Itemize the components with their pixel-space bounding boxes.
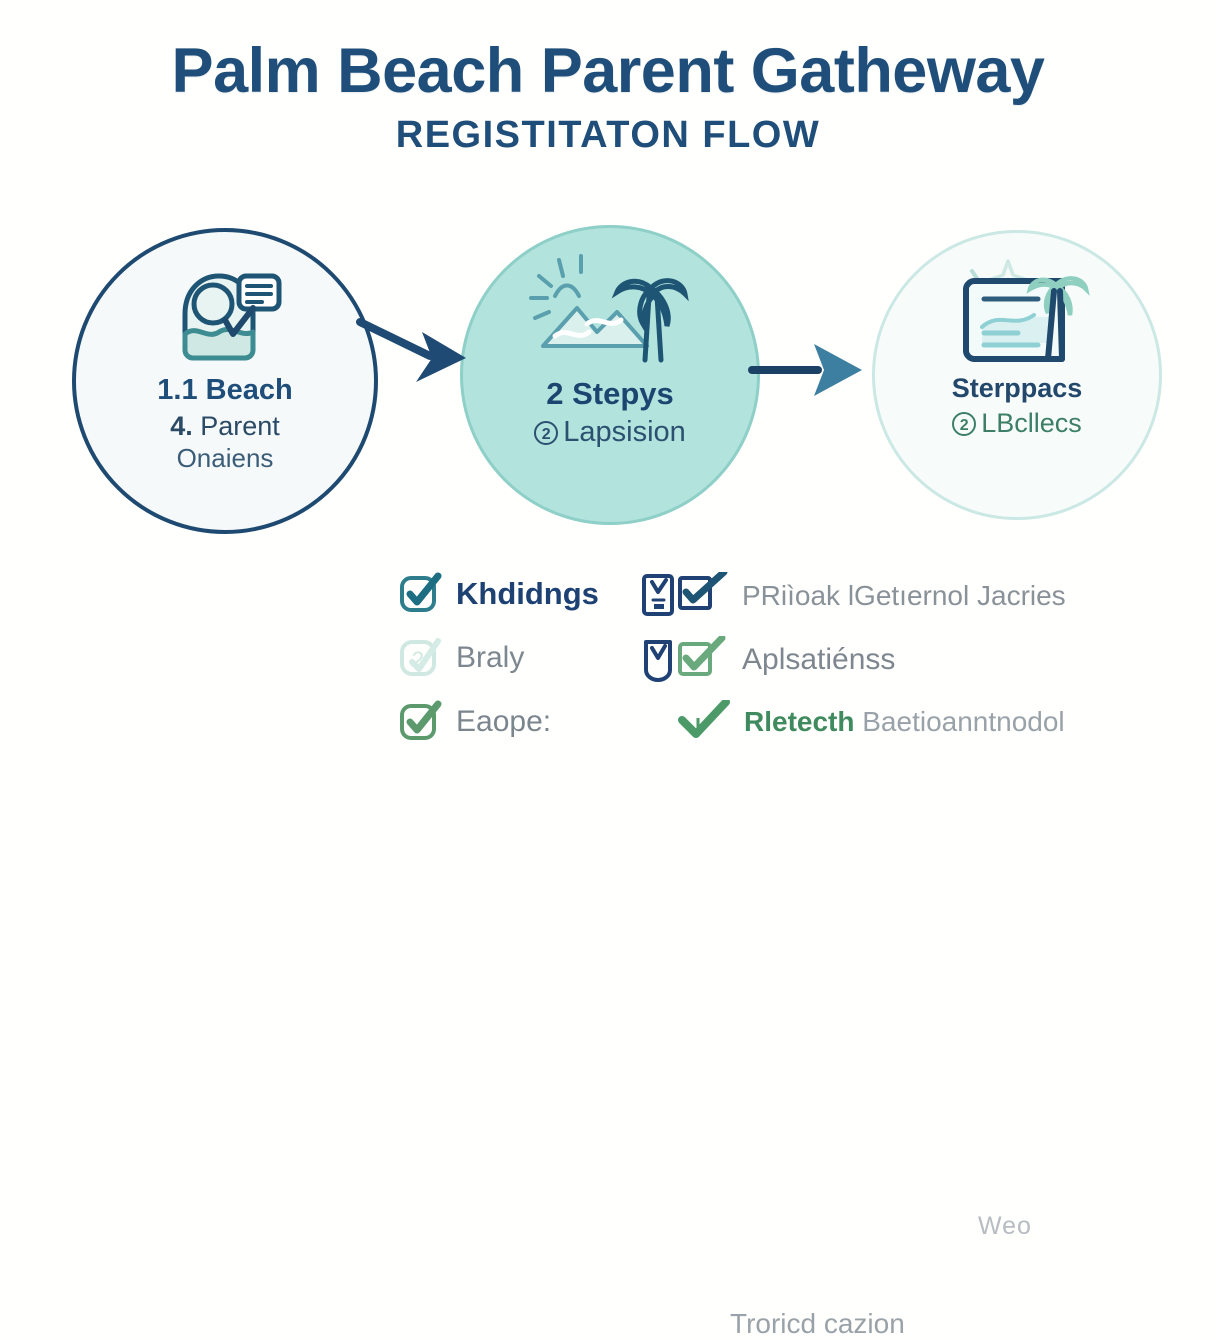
checklist-label-right-2: Aplsatiénss bbox=[742, 643, 895, 677]
checklist-sub-note: Troricd cazion bbox=[730, 1308, 905, 1340]
step-2-line2-text: Lapsision bbox=[563, 416, 686, 448]
profile-form-check-icon bbox=[167, 258, 283, 374]
arrow-2 bbox=[752, 338, 870, 400]
checkbox-green-icon[interactable] bbox=[398, 700, 442, 744]
step-circle-2[interactable]: 2 Stepys 2Lapsision bbox=[460, 225, 760, 525]
page-title: Palm Beach Parent Gatheway bbox=[0, 38, 1216, 104]
checklist-label-left-2: Braly bbox=[456, 641, 524, 675]
step-3-line2: 2LBcllecs bbox=[952, 408, 1083, 439]
step-2-text: 2 Stepys 2Lapsision bbox=[520, 376, 700, 449]
step-1-line2: 4. Parent bbox=[157, 411, 292, 442]
checklist-label-right-3-head: Rletecth bbox=[744, 706, 862, 737]
checklist-label-left-3: Eaope: bbox=[456, 705, 551, 739]
checklist-item-right-2[interactable]: Aplsatiénss bbox=[642, 636, 895, 684]
checklist-item-left-3[interactable]: Eaope: bbox=[398, 700, 551, 744]
checklist-item-right-3[interactable]: Rletecth Baetioanntnodol bbox=[676, 700, 1065, 744]
palm-beach-sun-icon bbox=[525, 250, 695, 376]
step-2-line1: 2 Stepys bbox=[534, 376, 686, 412]
header: Palm Beach Parent Gatheway REGISTITATON … bbox=[0, 38, 1216, 156]
checkbox-faded-icon[interactable]: 2 bbox=[398, 636, 442, 680]
checklist-float-note: Weo bbox=[978, 1212, 1032, 1241]
step-3-line2-text: LBcllecs bbox=[981, 408, 1082, 438]
checklist-item-right-1[interactable]: PRiìoak lGetıernol Jacries bbox=[642, 572, 1066, 620]
arrow-1 bbox=[358, 318, 478, 388]
step-1-line1: 1.1 Beach bbox=[157, 374, 292, 407]
checklist-label-right-3: Rletecth Baetioanntnodol bbox=[744, 706, 1065, 738]
step-3-badge: 2 bbox=[952, 412, 976, 436]
checklist-label-right-1: PRiìoak lGetıernol Jacries bbox=[742, 580, 1066, 612]
infographic-canvas: Palm Beach Parent Gatheway REGISTITATON … bbox=[0, 0, 1216, 832]
checklist-label-right-3-tail: Baetioanntnodol bbox=[862, 706, 1064, 737]
step-circle-1[interactable]: 1.1 Beach 4. Parent Onaiens bbox=[72, 228, 378, 534]
checklist: Khdidngs 2 Braly Eaope: bbox=[0, 560, 1216, 810]
steps-row: 1.1 Beach 4. Parent Onaiens bbox=[0, 222, 1216, 542]
step-circle-3[interactable]: Sterppacs 2LBcllecs bbox=[872, 230, 1162, 520]
beach-document-palm-icon bbox=[942, 255, 1092, 373]
step-1-line2-number: 4. bbox=[170, 411, 193, 441]
step-3-text: Sterppacs 2LBcllecs bbox=[938, 373, 1097, 439]
step-1-line2-text: Parent bbox=[193, 411, 280, 441]
step-1-line3: Onaiens bbox=[157, 444, 292, 474]
clipboard-checkbox-green-icon[interactable] bbox=[642, 636, 728, 684]
checklist-label-left-1: Khdidngs bbox=[456, 576, 599, 612]
step-2-line2: 2Lapsision bbox=[534, 416, 686, 449]
page-subtitle: REGISTITATON FLOW bbox=[0, 116, 1216, 156]
checkbox-teal-icon[interactable] bbox=[398, 572, 442, 616]
clipboard-checkbox-navy-icon[interactable] bbox=[642, 572, 728, 620]
checklist-item-left-2[interactable]: 2 Braly bbox=[398, 636, 524, 680]
step-2-badge: 2 bbox=[534, 421, 558, 445]
step-1-text: 1.1 Beach 4. Parent Onaiens bbox=[143, 374, 306, 474]
check-green-icon[interactable] bbox=[676, 700, 730, 744]
checklist-item-left-1[interactable]: Khdidngs bbox=[398, 572, 599, 616]
step-3-line1: Sterppacs bbox=[952, 373, 1083, 404]
